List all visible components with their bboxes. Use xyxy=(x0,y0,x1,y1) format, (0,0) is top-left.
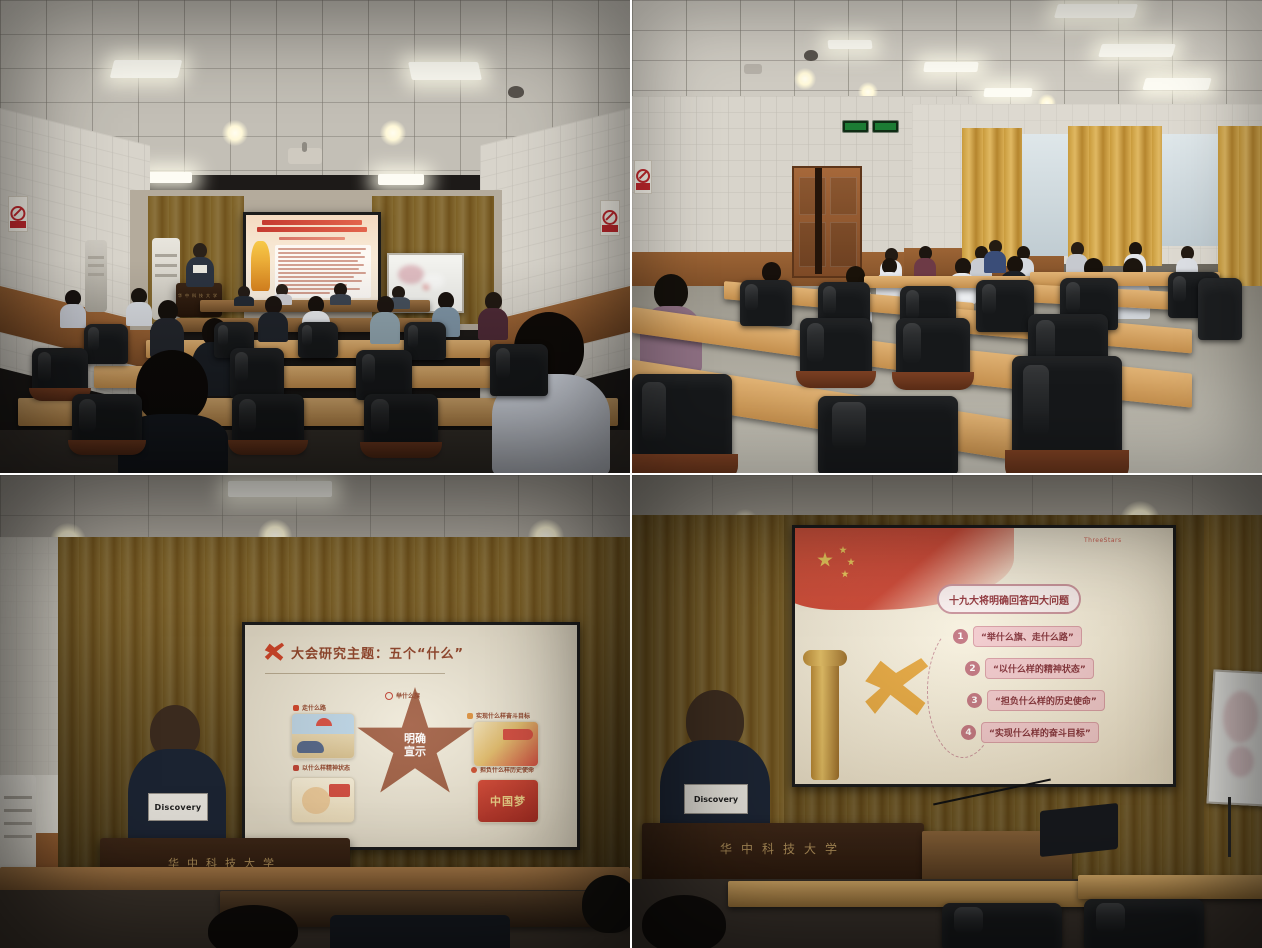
question-number: 1 xyxy=(953,629,968,644)
photo-collage: 高举中国特色社会主义伟大旗帜 为决胜全面小康社会实现中国梦而奋斗 ——学习宣传贯… xyxy=(0,0,1262,948)
slide-label-1: 走什么路 xyxy=(293,703,326,712)
ceiling-light-panel xyxy=(1142,78,1211,90)
chair xyxy=(800,318,872,384)
ceiling-speaker xyxy=(744,64,762,74)
slide-thumbnail-spirit xyxy=(291,777,355,823)
downlight xyxy=(794,68,816,90)
chair xyxy=(632,374,732,473)
attendee xyxy=(126,288,152,324)
podium-venue-text: 华中科技大学 xyxy=(642,840,924,857)
label-bullet-icon xyxy=(385,692,393,700)
question-row-2: 2 “以什么样的精神状态” xyxy=(965,658,1094,679)
attendee-foreground xyxy=(642,895,732,948)
chair xyxy=(1084,899,1204,948)
chair xyxy=(896,318,970,386)
laptop xyxy=(1040,803,1118,857)
screen-brand-label: ThreeStars xyxy=(1084,537,1122,544)
security-camera-dome xyxy=(508,86,524,98)
attendee-foreground xyxy=(178,905,328,948)
question-text: “实现什么样的奋斗目标” xyxy=(981,722,1099,743)
slide-surface: 大会研究主题：五个“什么” 明确 宣示 举什么旗 xyxy=(245,625,577,847)
speaker xyxy=(185,243,215,287)
window xyxy=(1162,134,1220,246)
ceiling-light-panel xyxy=(378,174,424,185)
attendee xyxy=(258,296,288,340)
slide-label-3: 以什么样精神状态 xyxy=(293,763,350,772)
chair xyxy=(1198,278,1242,340)
attendee-foreground xyxy=(582,875,630,948)
question-text: “举什么旗、走什么路” xyxy=(973,626,1082,647)
slide-label-0: 举什么旗 xyxy=(385,691,420,700)
slide-label-text: 举什么旗 xyxy=(396,691,420,700)
chair xyxy=(298,322,338,358)
slide-label-text: 走什么路 xyxy=(302,703,326,712)
slide-thumbnail-china-dream: 中国梦 xyxy=(477,779,539,823)
projection-screen xyxy=(243,212,381,306)
speaker-shirt-logo: Discovery xyxy=(148,793,208,821)
slide-heading-bubble: 十九大将明确回答四大问题 xyxy=(937,584,1081,614)
slide-surface xyxy=(246,215,378,303)
question-row-4: 4 “实现什么样的奋斗目标” xyxy=(961,722,1099,743)
question-text: “以什么样的精神状态” xyxy=(985,658,1094,679)
star-label-line1: 明确 xyxy=(355,733,475,746)
star-center-label: 明确 宣示 xyxy=(355,733,475,758)
stone-pillar-graphic xyxy=(811,656,839,780)
ceiling-light-panel xyxy=(110,60,182,78)
thumbnail-caption: 中国梦 xyxy=(490,793,526,809)
projection-screen: 十九大将明确回答四大问题 1 “举什么旗、走什么路” 2 “以什么样的精神状态”… xyxy=(792,525,1176,787)
chair xyxy=(72,394,142,452)
projection-screen: 大会研究主题：五个“什么” 明确 宣示 举什么旗 xyxy=(242,622,580,850)
curtain xyxy=(1218,126,1262,286)
air-conditioner xyxy=(85,240,107,312)
question-row-3: 3 “担负什么样的历史使命” xyxy=(967,690,1105,711)
label-bullet-icon xyxy=(471,767,477,773)
question-number: 3 xyxy=(967,693,982,708)
no-smoking-sign xyxy=(8,196,28,232)
attendee xyxy=(330,283,351,304)
stone-pillar-top xyxy=(803,650,847,666)
security-camera-dome xyxy=(804,50,818,61)
window xyxy=(1020,134,1072,256)
chair xyxy=(232,394,304,452)
desk-row xyxy=(1078,875,1262,899)
slide-title-rule xyxy=(265,673,445,674)
chair xyxy=(364,394,438,454)
question-number: 2 xyxy=(965,661,980,676)
question-text: “担负什么样的历史使命” xyxy=(987,690,1105,711)
speaker: Discovery xyxy=(128,705,226,855)
flipchart-board xyxy=(1207,670,1262,807)
photo-top-left: 高举中国特色社会主义伟大旗帜 为决胜全面小康社会实现中国梦而奋斗 ——学习宣传贯… xyxy=(0,0,630,473)
podium-venue-text: 华中科技大学 xyxy=(176,293,222,299)
ceiling-light-panel xyxy=(923,62,978,72)
downlight xyxy=(380,120,406,146)
no-smoking-sign xyxy=(634,160,652,194)
slide-heading-text: 十九大将明确回答四大问题 xyxy=(949,592,1069,607)
speaker-head xyxy=(193,243,207,258)
attendee xyxy=(914,246,936,280)
ceiling-light-panel xyxy=(983,88,1032,97)
attendee xyxy=(370,296,400,342)
ceiling-light-panel xyxy=(1054,4,1138,18)
downlight xyxy=(222,120,248,146)
label-bullet-icon xyxy=(293,705,299,711)
emergency-exit-sign xyxy=(872,120,899,133)
ceiling-light-panel xyxy=(146,172,192,183)
ceiling-light-panel xyxy=(408,62,482,80)
ceiling-light-panel xyxy=(828,40,873,49)
chair xyxy=(740,280,792,326)
question-number: 4 xyxy=(961,725,976,740)
no-smoking-sign xyxy=(600,200,620,236)
slide-title-text: 大会研究主题：五个“什么” xyxy=(291,643,464,662)
photo-bottom-right: 十九大将明确回答四大问题 1 “举什么旗、走什么路” 2 “以什么样的精神状态”… xyxy=(632,475,1262,948)
label-bullet-icon xyxy=(293,765,299,771)
chair xyxy=(490,344,548,396)
emergency-exit-sign xyxy=(842,120,869,133)
slide-title: 大会研究主题：五个“什么” xyxy=(263,641,464,663)
slide-label-text: 以什么样精神状态 xyxy=(302,763,350,772)
hammer-and-sickle-emblem xyxy=(861,654,931,722)
chair xyxy=(230,348,284,398)
chair xyxy=(976,280,1034,332)
chair xyxy=(84,324,128,364)
slide-surface: 十九大将明确回答四大问题 1 “举什么旗、走什么路” 2 “以什么样的精神状态”… xyxy=(795,528,1173,784)
label-bullet-icon xyxy=(467,713,473,719)
slide-thumbnail-road xyxy=(291,713,355,759)
congress-opening-slide xyxy=(246,215,378,303)
chair xyxy=(356,350,412,400)
chair xyxy=(818,396,958,473)
ceiling-light-panel xyxy=(228,481,332,497)
photo-bottom-left: 大会研究主题：五个“什么” 明确 宣示 举什么旗 xyxy=(0,475,630,948)
slide-label-2: 实现什么样奋斗目标 xyxy=(467,711,530,720)
four-questions-slide: 十九大将明确回答四大问题 1 “举什么旗、走什么路” 2 “以什么样的精神状态”… xyxy=(795,528,1173,784)
cpc-emblem-icon xyxy=(263,641,285,663)
slide-title-block xyxy=(254,220,370,239)
slide-label-text: 实现什么样奋斗目标 xyxy=(476,711,530,720)
room-door xyxy=(792,166,862,278)
ceiling-light-panel xyxy=(1098,44,1176,57)
question-row-1: 1 “举什么旗、走什么路” xyxy=(953,626,1082,647)
attendee xyxy=(60,290,86,326)
attendee xyxy=(150,300,184,356)
chair xyxy=(32,348,88,398)
chair xyxy=(1012,356,1122,473)
slide-thumbnail-goal xyxy=(473,721,539,767)
photo-top-right xyxy=(632,0,1262,473)
star-label-line2: 宣示 xyxy=(355,746,475,759)
chair xyxy=(942,903,1062,948)
projector-mount xyxy=(302,142,307,152)
attendee xyxy=(234,286,254,304)
speaker-shirt-logo: Discovery xyxy=(684,784,748,814)
torch-graphic xyxy=(251,241,269,290)
